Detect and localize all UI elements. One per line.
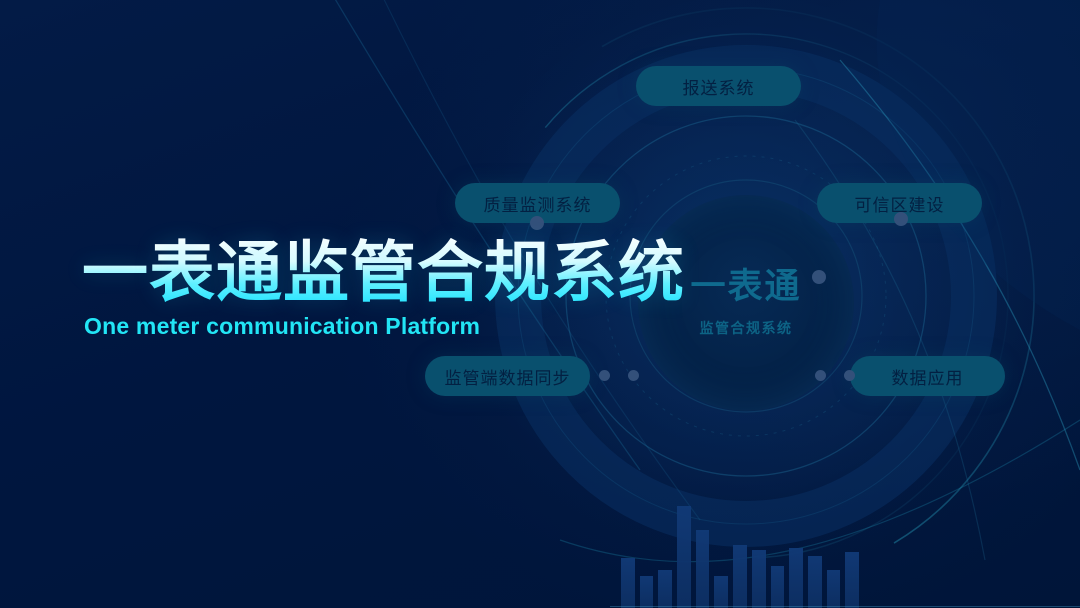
connector-dot-right-inner <box>815 370 826 381</box>
hub-subtitle: 监管合规系统 <box>700 318 793 338</box>
page-subtitle: One meter communication Platform <box>84 313 685 340</box>
page-title: 一表通监管合规系统 <box>82 238 685 307</box>
chart-bar <box>845 552 859 608</box>
node-pill-regulator-data-sync[interactable]: 监管端数据同步 <box>425 356 590 396</box>
connector-dot-right-upper <box>812 270 826 284</box>
chart-bar <box>733 545 747 608</box>
chart-bar <box>714 576 728 608</box>
chart-bar <box>640 576 654 608</box>
connector-dot-left-outer <box>628 370 639 381</box>
chart-baseline <box>610 606 1080 607</box>
chart-bar <box>696 530 710 608</box>
bar-chart <box>621 486 859 608</box>
chart-bar <box>771 566 785 608</box>
node-pill-data-application[interactable]: 数据应用 <box>850 356 1005 396</box>
node-pill-reporting-system[interactable]: 报送系统 <box>636 66 801 106</box>
slide-canvas: 一表通监管合规系统 One meter communication Platfo… <box>0 0 1080 608</box>
chart-bar <box>658 570 672 608</box>
connector-dot-trusted-zone <box>894 212 908 226</box>
hub-title: 一表通 <box>690 269 801 304</box>
chart-bar <box>808 556 822 608</box>
chart-bar <box>789 548 803 608</box>
chart-bar <box>677 506 691 608</box>
chart-bar <box>621 558 635 608</box>
title-block: 一表通监管合规系统 One meter communication Platfo… <box>82 238 685 340</box>
connector-dot-quality-monitoring <box>530 216 544 230</box>
chart-bar <box>752 550 766 608</box>
connector-dot-left-inner <box>599 370 610 381</box>
connector-dot-right-outer <box>844 370 855 381</box>
chart-bar <box>827 570 841 608</box>
